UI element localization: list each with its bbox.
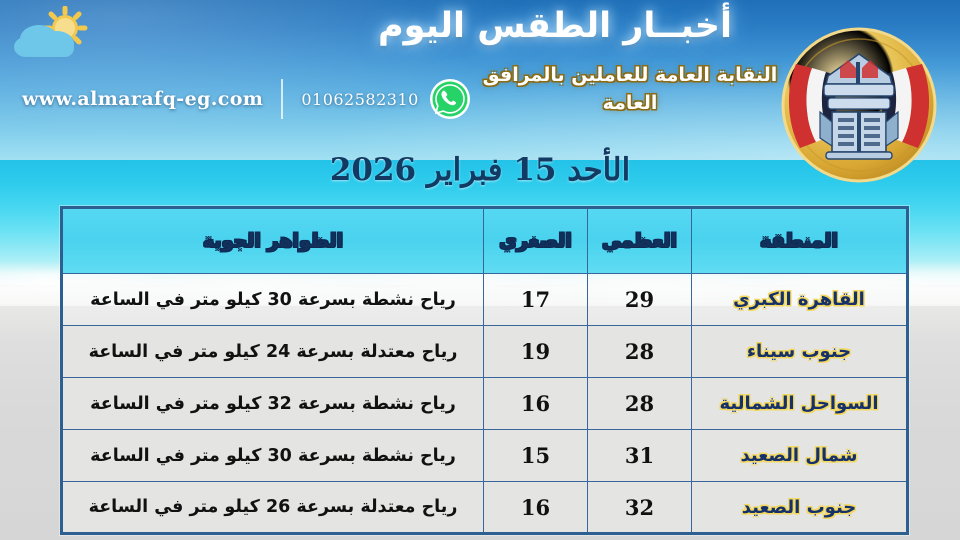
weather-table: المنطقة العظمي الصغري الظواهر الجوية الق…	[60, 206, 909, 535]
table-row: شمال الصعيد 31 15 رياح نشطة بسرعة 30 كيل…	[62, 430, 908, 482]
cell-min-temp: 15	[484, 430, 588, 482]
table-row: جنوب الصعيد 32 16 رياح معتدلة بسرعة 26 ك…	[62, 482, 908, 534]
organization-name: النقابة العامة للعاملين بالمرافق العامة	[480, 62, 780, 117]
cell-min-temp: 16	[484, 482, 588, 534]
cell-region: جنوب الصعيد	[692, 482, 908, 534]
cell-max-temp: 28	[588, 326, 692, 378]
phone-number[interactable]: 01062582310	[301, 90, 418, 109]
cell-max-temp: 32	[588, 482, 692, 534]
weather-infographic: 01062582310 www.almarafq-eg.com أخبــار …	[0, 0, 960, 540]
cell-condition: رياح نشطة بسرعة 30 كيلو متر في الساعة	[62, 274, 484, 326]
cell-condition: رياح معتدلة بسرعة 26 كيلو متر في الساعة	[62, 482, 484, 534]
contact-divider	[281, 79, 283, 119]
cell-region: جنوب سيناء	[692, 326, 908, 378]
cell-min-temp: 16	[484, 378, 588, 430]
column-header-max-temp: العظمي	[588, 208, 692, 274]
cell-condition: رياح معتدلة بسرعة 24 كيلو متر في الساعة	[62, 326, 484, 378]
cell-region: شمال الصعيد	[692, 430, 908, 482]
cell-condition: رياح نشطة بسرعة 30 كيلو متر في الساعة	[62, 430, 484, 482]
report-date: الأحد 15 فبراير 2026	[0, 152, 960, 188]
cell-condition: رياح نشطة بسرعة 32 كيلو متر في الساعة	[62, 378, 484, 430]
column-header-region: المنطقة	[692, 208, 908, 274]
whatsapp-icon[interactable]	[429, 78, 471, 120]
cell-min-temp: 17	[484, 274, 588, 326]
column-header-condition: الظواهر الجوية	[62, 208, 484, 274]
table-row: القاهرة الكبري 29 17 رياح نشطة بسرعة 30 …	[62, 274, 908, 326]
cell-min-temp: 19	[484, 326, 588, 378]
contact-bar: 01062582310 www.almarafq-eg.com	[22, 78, 471, 120]
cell-region: القاهرة الكبري	[692, 274, 908, 326]
table-row: جنوب سيناء 28 19 رياح معتدلة بسرعة 24 كي…	[62, 326, 908, 378]
table-row: السواحل الشمالية 28 16 رياح نشطة بسرعة 3…	[62, 378, 908, 430]
website-url[interactable]: www.almarafq-eg.com	[22, 88, 263, 110]
cell-max-temp: 28	[588, 378, 692, 430]
cell-max-temp: 29	[588, 274, 692, 326]
column-header-min-temp: الصغري	[484, 208, 588, 274]
table-header-row: المنطقة العظمي الصغري الظواهر الجوية	[62, 208, 908, 274]
cell-region: السواحل الشمالية	[692, 378, 908, 430]
cell-max-temp: 31	[588, 430, 692, 482]
